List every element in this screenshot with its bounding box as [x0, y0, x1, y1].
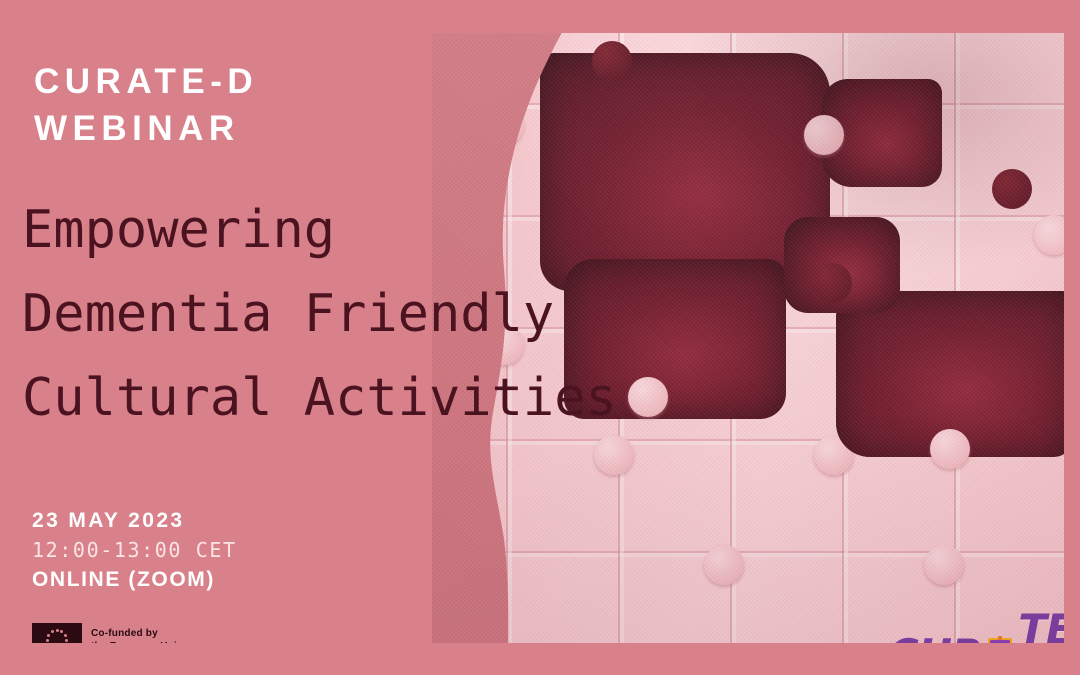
border-band-right	[1064, 0, 1080, 675]
jigsaw-knob	[484, 105, 524, 145]
curate-d-logo-prefix: CUR	[888, 630, 982, 644]
webinar-poster: CURATE-D WEBINAR Empowering Dementia Fri…	[0, 0, 1080, 675]
eu-flag-star	[60, 630, 63, 633]
jigsaw-knob	[704, 545, 744, 585]
event-place: ONLINE (ZOOM)	[32, 565, 237, 595]
poster-canvas: CURATE-D WEBINAR Empowering Dementia Fri…	[0, 33, 1064, 643]
easel-icon	[983, 636, 1017, 643]
poster-kicker: CURATE-D WEBINAR	[34, 58, 258, 152]
jigsaw-knob	[804, 115, 844, 155]
eu-funding-logo: Co-funded by the European Union	[32, 623, 190, 643]
border-band-top	[0, 0, 1080, 33]
eu-flag-star	[51, 630, 54, 633]
event-date: 23 MAY 2023	[32, 507, 237, 535]
jigsaw-knob-shadow	[592, 41, 632, 81]
curate-d-logo-suffix: TE-D	[1018, 605, 1064, 643]
eu-flag-star	[47, 634, 50, 637]
jigsaw-knob	[924, 545, 964, 585]
jigsaw-knob-shadow	[992, 169, 1032, 209]
eu-flag-star	[46, 639, 49, 642]
curate-d-logo: CUR TE-D	[888, 605, 1064, 643]
event-details: 23 MAY 2023 12:00-13:00 CET ONLINE (ZOOM…	[32, 507, 237, 595]
eu-flag-star	[64, 634, 67, 637]
jigsaw-knob	[594, 435, 634, 475]
eu-flag-star	[65, 639, 68, 642]
eu-flag-star	[56, 629, 59, 632]
border-band-bottom	[0, 643, 1080, 675]
jigsaw-knob	[930, 429, 970, 469]
poster-headline: Empowering Dementia Friendly Cultural Ac…	[22, 188, 822, 440]
event-time: 12:00-13:00 CET	[32, 535, 237, 565]
european-union-flag-icon	[32, 623, 82, 643]
eu-funding-label: Co-funded by the European Union	[91, 627, 190, 643]
